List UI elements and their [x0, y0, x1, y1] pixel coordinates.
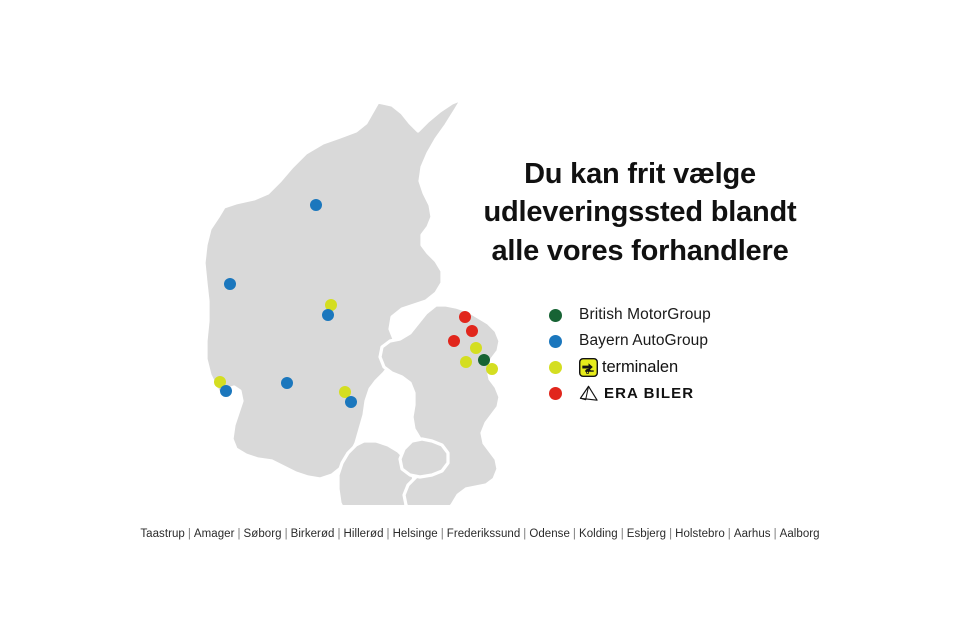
terminalen-logo-icon: [579, 358, 598, 377]
city-separator: |: [620, 528, 625, 540]
city-list: Taastrup|Amager|Søborg|Birkerød|Hillerød…: [0, 528, 960, 540]
city-separator: |: [336, 528, 341, 540]
legend-swatch-red: [549, 387, 562, 400]
map-dot-aalborg[interactable]: [310, 199, 322, 211]
map-dot-hillerod[interactable]: [466, 325, 478, 337]
legend-item-bayern-autogroup[interactable]: Bayern AutoGroup: [549, 328, 809, 354]
city-separator: |: [284, 528, 289, 540]
legend-item-era-biler[interactable]: ERA BILER: [549, 380, 809, 406]
map-dot-esbjerg[interactable]: [220, 385, 232, 397]
map-dot-holstebro[interactable]: [224, 278, 236, 290]
headline-line-1: Du kan frit vælge: [470, 155, 810, 193]
map-dot-taastrup[interactable]: [460, 356, 472, 368]
city-name: Amager: [192, 528, 237, 540]
city-name: Taastrup: [138, 528, 187, 540]
terminalen-logo-wordmark: terminalen: [602, 358, 678, 377]
denmark-map-svg: [180, 95, 510, 505]
legend-label-british-motorgroup: British MotorGroup: [579, 306, 711, 324]
city-name: Aarhus: [732, 528, 773, 540]
legend-item-british-motorgroup[interactable]: British MotorGroup: [549, 302, 809, 328]
city-name: Birkerød: [289, 528, 337, 540]
city-separator: |: [386, 528, 391, 540]
map-dot-birkerod[interactable]: [470, 342, 482, 354]
city-name: Helsinge: [391, 528, 440, 540]
era-biler-logo-wordmark: ERA BILER: [604, 385, 694, 402]
city-name: Aalborg: [778, 528, 822, 540]
brand-legend: British MotorGroup Bayern AutoGroup term…: [549, 302, 809, 406]
city-name: Hillerød: [342, 528, 386, 540]
map-dot-helsinge[interactable]: [459, 311, 471, 323]
terminalen-logo: terminalen: [579, 358, 678, 377]
city-name: Kolding: [577, 528, 620, 540]
city-name: Odense: [527, 528, 572, 540]
legend-item-terminalen[interactable]: terminalen: [549, 354, 809, 380]
page-title: Du kan frit vælge udleveringssted blandt…: [470, 155, 810, 270]
map-landmasses: [204, 99, 500, 505]
headline-line-3: alle vores forhandlere: [470, 232, 810, 270]
city-name: Esbjerg: [625, 528, 668, 540]
denmark-map: [180, 95, 510, 505]
region-lolland-falster: [400, 439, 448, 477]
map-dot-aarhus[interactable]: [322, 309, 334, 321]
map-dot-odense[interactable]: [339, 386, 351, 398]
map-dot-kolding[interactable]: [281, 377, 293, 389]
city-name: Søborg: [242, 528, 284, 540]
city-name: Frederikssund: [445, 528, 523, 540]
map-dot-odense[interactable]: [345, 396, 357, 408]
legend-swatch-green: [549, 309, 562, 322]
era-biler-logo-icon: [579, 385, 599, 402]
city-separator: |: [773, 528, 778, 540]
map-dot-amager[interactable]: [486, 363, 498, 375]
promo-map-page: Du kan frit vælge udleveringssted blandt…: [0, 0, 960, 640]
map-dot-soborg[interactable]: [478, 354, 490, 366]
city-name: Holstebro: [673, 528, 727, 540]
era-biler-logo: ERA BILER: [579, 385, 694, 402]
headline-line-2: udleveringssted blandt: [470, 193, 810, 231]
legend-label-bayern-autogroup: Bayern AutoGroup: [579, 332, 708, 350]
legend-swatch-yellow: [549, 361, 562, 374]
city-separator: |: [237, 528, 242, 540]
legend-swatch-blue: [549, 335, 562, 348]
map-dot-frederikssund[interactable]: [448, 335, 460, 347]
